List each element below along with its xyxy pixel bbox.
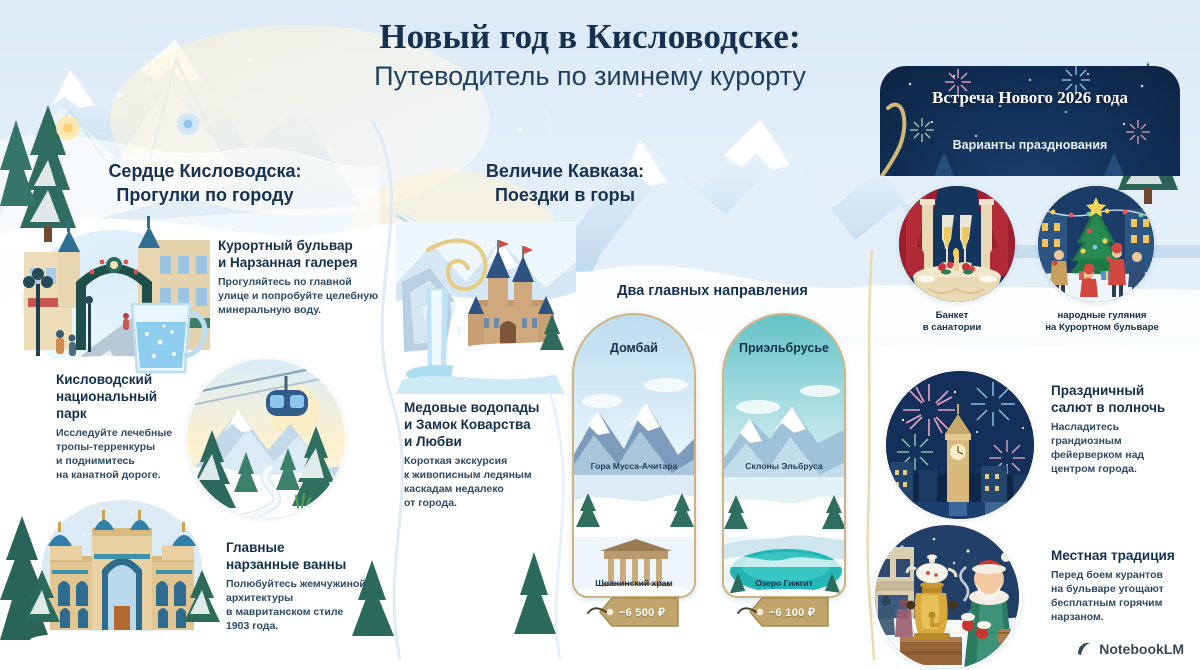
section-heading-middle-line1: Величие Кавказа: [430, 160, 700, 184]
street-festivities-illustration [1037, 185, 1155, 303]
infographic-poster: Новый год в Кисловодске: Путеводитель по… [0, 0, 1200, 670]
item-narzan-baths-heading: Главные нарзанные ванны [226, 540, 386, 574]
item-fireworks-heading: Праздничный салют в полночь [1051, 383, 1191, 417]
option-caption-street: народные гуляния на Курортном бульваре [1022, 310, 1182, 335]
destination-card-elbrus[interactable]: Приэльбрусье Склоны Эльбруса Озеро Гижги… [722, 313, 846, 598]
new-year-panel-subtitle: Варианты празднования [880, 138, 1180, 152]
item-local-tradition-heading: Местная традиция [1051, 548, 1196, 565]
price-tag-dombay: ~6 500 ₽ [586, 596, 682, 628]
title-main: Новый год в Кисловодске: [300, 18, 880, 56]
destination-name-elbrus: Приэльбрусье [724, 341, 844, 355]
item-boulevard-heading: Курортный бульвар и Нарзанная галерея [218, 238, 388, 272]
item-narzan-baths-text: Главные нарзанные ванны Полюбуйтесь жемч… [226, 540, 386, 633]
destination-caption-upper-dombay: Гора Мусса-Ачитара [574, 461, 694, 471]
narzan-baths-illustration [22, 494, 222, 646]
fireworks-illustration [885, 370, 1035, 520]
notebooklm-logo-icon [1075, 640, 1093, 658]
destination-caption-lower-dombay: Шоанинский храм [574, 578, 694, 588]
item-waterfalls-text: Медовые водопады и Замок Коварства и Люб… [404, 400, 564, 510]
section-heading-left: Сердце Кисловодска: Прогулки по городу [55, 160, 355, 208]
destination-caption-upper-elbrus: Склоны Эльбруса [724, 461, 844, 471]
waterfall-castle-illustration [396, 222, 576, 394]
watermark-label: NotebookLM [1099, 641, 1184, 657]
price-label-dombay: ~6 500 ₽ [586, 596, 682, 628]
price-label-elbrus: ~6 100 ₽ [736, 596, 832, 628]
item-national-park-body: Исследуйте лечебные тропы-терренкуры и п… [56, 426, 196, 482]
item-local-tradition-body: Перед боем курантов на бульваре угощают … [1051, 568, 1196, 624]
section-heading-left-line2: Прогулки по городу [55, 184, 355, 208]
boulevard-illustration [14, 212, 214, 377]
watermark: NotebookLM [1075, 640, 1184, 658]
item-local-tradition-text: Местная традиция Перед боем курантов на … [1051, 548, 1196, 624]
section-heading-middle-line2: Поездки в горы [430, 184, 700, 208]
title-subtitle: Путеводитель по зимнему курорту [300, 61, 880, 91]
item-waterfalls-heading: Медовые водопады и Замок Коварства и Люб… [404, 400, 564, 451]
poster-title: Новый год в Кисловодске: Путеводитель по… [300, 18, 880, 91]
item-boulevard-text: Курортный бульвар и Нарзанная галерея Пр… [218, 238, 388, 317]
destination-caption-lower-elbrus: Озеро Гижгит [724, 578, 844, 588]
item-fireworks-text: Праздничный салют в полночь Насладитесь … [1051, 383, 1191, 476]
option-caption-banquet: Банкет в санатории [897, 310, 1007, 335]
price-tag-elbrus: ~6 100 ₽ [736, 596, 832, 628]
new-year-panel-title: Встреча Нового 2026 года [880, 88, 1180, 108]
item-boulevard-body: Прогуляйтесь по главной улице и попробуй… [218, 275, 388, 317]
new-year-panel: Встреча Нового 2026 года Варианты праздн… [880, 66, 1180, 176]
banquet-illustration [898, 185, 1016, 303]
samovar-tradition-illustration [872, 525, 1022, 670]
item-fireworks-body: Насладитесь грандиозным фейерверком над … [1051, 420, 1191, 476]
destinations-title: Два главных направления [560, 283, 865, 299]
item-national-park-heading: Кисловодский национальный парк [56, 372, 196, 423]
section-heading-middle: Величие Кавказа: Поездки в горы [430, 160, 700, 208]
item-national-park-text: Кисловодский национальный парк Исследуйт… [56, 372, 196, 482]
destination-name-dombay: Домбай [574, 341, 694, 355]
destination-card-dombay[interactable]: Домбай Гора Мусса-Ачитара Шоанинский хра… [572, 313, 696, 598]
item-waterfalls-body: Короткая экскурсия к живописным ледяным … [404, 454, 564, 510]
section-heading-left-line1: Сердце Кисловодска: [55, 160, 355, 184]
item-narzan-baths-body: Полюбуйтесь жемчужиной архитектуры в мав… [226, 577, 386, 633]
